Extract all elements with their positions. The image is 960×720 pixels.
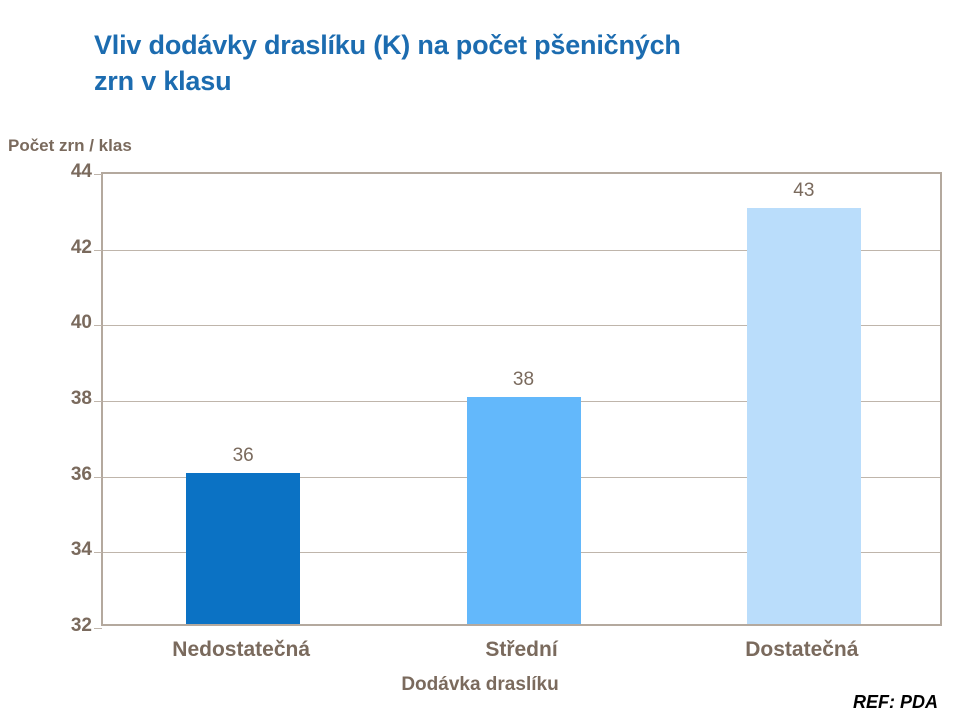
- y-axis-tick-mark: [94, 401, 102, 402]
- y-axis-tick-mark: [94, 250, 102, 251]
- chart-title-line-2: zrn v klasu: [94, 64, 894, 100]
- y-axis-tick-mark: [94, 552, 102, 553]
- y-axis-title: Počet zrn / klas: [8, 136, 132, 156]
- x-axis-category-label: Dostatečná: [745, 638, 858, 662]
- x-axis-category-label: Střední: [485, 638, 557, 662]
- y-axis-tick-label: 42: [71, 237, 92, 259]
- y-axis-tick-label: 40: [71, 312, 92, 334]
- y-axis-tick-mark: [94, 325, 102, 326]
- y-axis-tick-label: 32: [71, 615, 92, 637]
- bar-value-label: 36: [233, 445, 254, 467]
- x-axis-category-label: Nedostatečná: [172, 638, 310, 662]
- plot-area: 363843: [101, 172, 942, 626]
- y-axis-tick-label: 34: [71, 539, 92, 561]
- y-axis-tick-label: 38: [71, 388, 92, 410]
- bar[interactable]: [467, 397, 581, 624]
- y-axis-tick-mark: [94, 628, 102, 629]
- y-axis-tick-labels: 44424038363432: [40, 172, 92, 626]
- bar[interactable]: [747, 208, 861, 624]
- bar[interactable]: [186, 473, 300, 624]
- x-axis-title: Dodávka draslíku: [0, 674, 960, 696]
- y-axis-tick-mark: [94, 174, 102, 175]
- chart-title-line-1: Vliv dodávky draslíku (K) na počet pšeni…: [94, 28, 894, 64]
- y-axis-tick-label: 36: [71, 464, 92, 486]
- y-axis-tick-mark: [94, 477, 102, 478]
- bar-value-label: 43: [793, 180, 814, 202]
- bar-value-label: 38: [513, 369, 534, 391]
- y-axis-tick-label: 44: [71, 161, 92, 183]
- reference-note: REF: PDA: [853, 692, 938, 713]
- page-title: Vliv dodávky draslíku (K) na počet pšeni…: [94, 28, 894, 100]
